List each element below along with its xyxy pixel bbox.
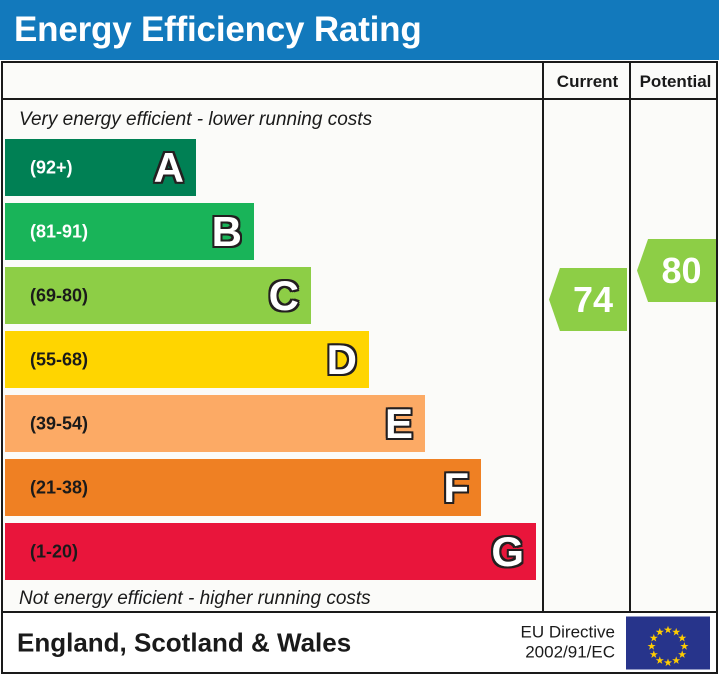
column-divider-current — [542, 100, 544, 615]
band-a-range: (92+) — [30, 157, 73, 178]
caption-efficient: Very energy efficient - lower running co… — [19, 109, 372, 131]
band-f: (21-38) F — [5, 459, 481, 516]
band-a-letter: A — [154, 147, 184, 189]
band-b: (81-91) B — [5, 203, 254, 260]
chart-frame: Current Potential Very energy efficient … — [1, 61, 718, 613]
band-d: (55-68) D — [5, 331, 369, 388]
column-divider-potential — [629, 100, 631, 615]
page-title: Energy Efficiency Rating — [14, 10, 422, 50]
band-f-letter: F — [443, 467, 469, 509]
band-d-letter: D — [327, 339, 357, 381]
band-b-letter: B — [212, 211, 242, 253]
footer-directive-line2: 2002/91/EC — [521, 643, 615, 664]
band-g-letter: G — [491, 531, 524, 573]
band-c: (69-80) C — [5, 267, 311, 324]
band-g: (1-20) G — [5, 523, 536, 580]
footer-directive: EU Directive 2002/91/EC — [521, 622, 615, 663]
band-a: (92+) A — [5, 139, 196, 196]
band-c-letter: C — [269, 275, 299, 317]
column-header-row: Current Potential — [3, 63, 716, 100]
band-f-range: (21-38) — [30, 477, 88, 498]
footer-directive-line1: EU Directive — [521, 622, 615, 643]
eu-flag-icon — [626, 616, 710, 669]
current-rating-value: 74 — [549, 282, 627, 318]
column-header-current: Current — [542, 63, 631, 100]
band-e-letter: E — [385, 403, 413, 445]
potential-rating-marker: 80 — [637, 239, 716, 302]
footer-region-label: England, Scotland & Wales — [17, 627, 351, 658]
band-g-range: (1-20) — [30, 541, 78, 562]
chart-footer: England, Scotland & Wales EU Directive 2… — [1, 613, 718, 674]
caption-inefficient: Not energy efficient - higher running co… — [19, 588, 371, 610]
band-c-range: (69-80) — [30, 285, 88, 306]
chart-title-bar: Energy Efficiency Rating — [0, 0, 719, 60]
band-e: (39-54) E — [5, 395, 425, 452]
band-e-range: (39-54) — [30, 413, 88, 434]
band-d-range: (55-68) — [30, 349, 88, 370]
energy-efficiency-rating-chart: Energy Efficiency Rating Current Potenti… — [0, 0, 719, 675]
potential-rating-value: 80 — [637, 253, 716, 289]
column-header-potential: Potential — [629, 63, 719, 100]
current-rating-marker: 74 — [549, 268, 627, 331]
band-b-range: (81-91) — [30, 221, 88, 242]
